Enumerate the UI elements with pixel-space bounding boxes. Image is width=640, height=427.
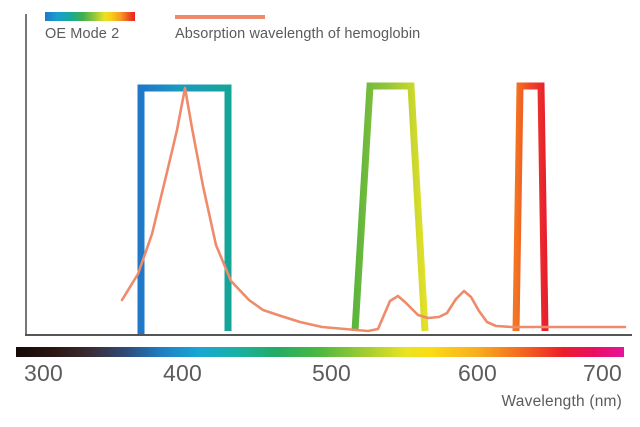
x-axis-line	[25, 334, 632, 336]
x-tick-400: 400	[163, 360, 202, 387]
series-hemoglobin-absorption	[122, 88, 625, 331]
x-axis-tick-labels: 300 400 500 600 700	[0, 360, 640, 386]
chart-root: OE Mode 2 Absorption wavelength of hemog…	[0, 0, 640, 427]
chart-legend: OE Mode 2 Absorption wavelength of hemog…	[45, 12, 605, 52]
series-oe-mode-2	[141, 86, 545, 334]
x-tick-600: 600	[458, 360, 497, 387]
wavelength-spectrum-bar	[16, 347, 624, 357]
legend-item-oe-mode-2: OE Mode 2	[45, 12, 135, 42]
band-2-green-yellow	[355, 86, 425, 331]
x-tick-700: 700	[583, 360, 622, 387]
y-axis-line	[25, 14, 27, 335]
x-tick-500: 500	[312, 360, 351, 387]
line-swatch-icon	[175, 15, 265, 19]
band-3-orange-red	[516, 86, 545, 331]
band-1-blue-teal	[141, 88, 228, 334]
x-axis-title: Wavelength (nm)	[502, 393, 622, 411]
x-tick-300: 300	[24, 360, 63, 387]
legend-item-label: Absorption wavelength of hemoglobin	[175, 26, 420, 42]
legend-item-hemoglobin: Absorption wavelength of hemoglobin	[175, 12, 420, 42]
legend-item-label: OE Mode 2	[45, 26, 135, 42]
spectral-gradient-swatch-icon	[45, 12, 135, 21]
